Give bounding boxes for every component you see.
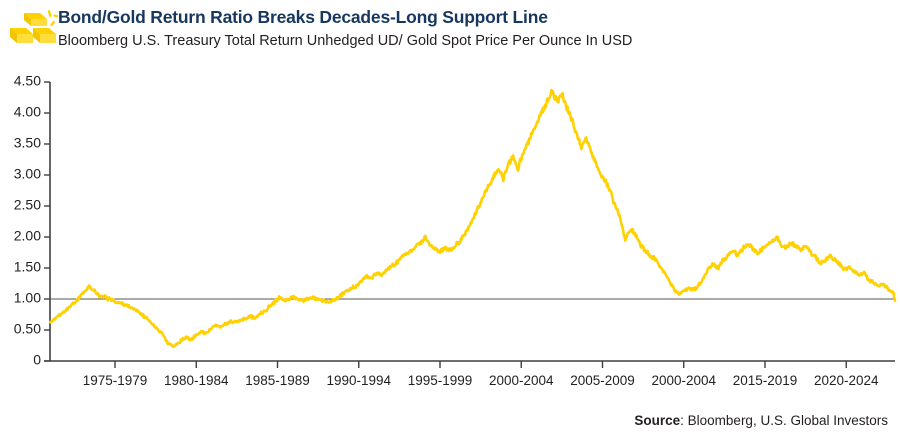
ratio-series-line: [50, 90, 895, 347]
y-tick-label: 0: [33, 352, 41, 368]
y-tick-label: 2.50: [14, 197, 41, 213]
chart-footer: Source: Bloomberg, U.S. Global Investors: [0, 407, 900, 440]
y-tick-label: 3.00: [14, 166, 41, 182]
x-tick-label: 2005-2009: [570, 373, 635, 388]
source-note: Source: Bloomberg, U.S. Global Investors: [634, 413, 888, 428]
x-axis-tick-labels: 1975-19791980-19841985-19891990-19941995…: [83, 373, 879, 388]
y-tick-label: 2.00: [14, 228, 41, 244]
x-tick-label: 2015-2019: [733, 373, 798, 388]
x-tick-label: 1990-1994: [326, 373, 391, 388]
y-tick-label: 4.00: [14, 104, 41, 120]
x-tick-label: 1985-1989: [245, 373, 310, 388]
y-tick-label: 1.50: [14, 259, 41, 275]
x-tick-label: 2000-2004: [489, 373, 554, 388]
y-tick-label: 4.50: [14, 73, 41, 89]
source-label: Source: [634, 413, 680, 428]
x-tick-label: 1995-1999: [408, 373, 473, 388]
gold-bars-icon: [6, 8, 58, 52]
x-tick-label: 1980-1984: [164, 373, 229, 388]
page-title: Bond/Gold Return Ratio Breaks Decades-Lo…: [58, 6, 888, 28]
x-tick-label: 2000-2004: [651, 373, 716, 388]
source-text: : Bloomberg, U.S. Global Investors: [680, 413, 888, 428]
y-tick-label: 1.00: [14, 290, 41, 306]
chart-page: Bond/Gold Return Ratio Breaks Decades-Lo…: [0, 0, 900, 440]
page-subtitle: Bloomberg U.S. Treasury Total Return Unh…: [58, 31, 888, 51]
title-block: Bond/Gold Return Ratio Breaks Decades-Lo…: [58, 6, 888, 51]
y-axis-tick-labels: 00.501.001.502.002.503.003.504.004.50: [14, 73, 41, 368]
chart-header: Bond/Gold Return Ratio Breaks Decades-Lo…: [0, 0, 900, 62]
y-axis-ticks: [44, 82, 50, 361]
x-axis-ticks: [115, 361, 846, 368]
y-tick-label: 0.50: [14, 321, 41, 337]
chart-plot-area: 00.501.001.502.002.503.003.504.004.50 19…: [0, 62, 900, 407]
y-tick-label: 3.50: [14, 135, 41, 151]
x-tick-label: 2020-2024: [814, 373, 879, 388]
x-tick-label: 1975-1979: [83, 373, 148, 388]
line-chart-svg: 00.501.001.502.002.503.003.504.004.50 19…: [0, 62, 900, 407]
